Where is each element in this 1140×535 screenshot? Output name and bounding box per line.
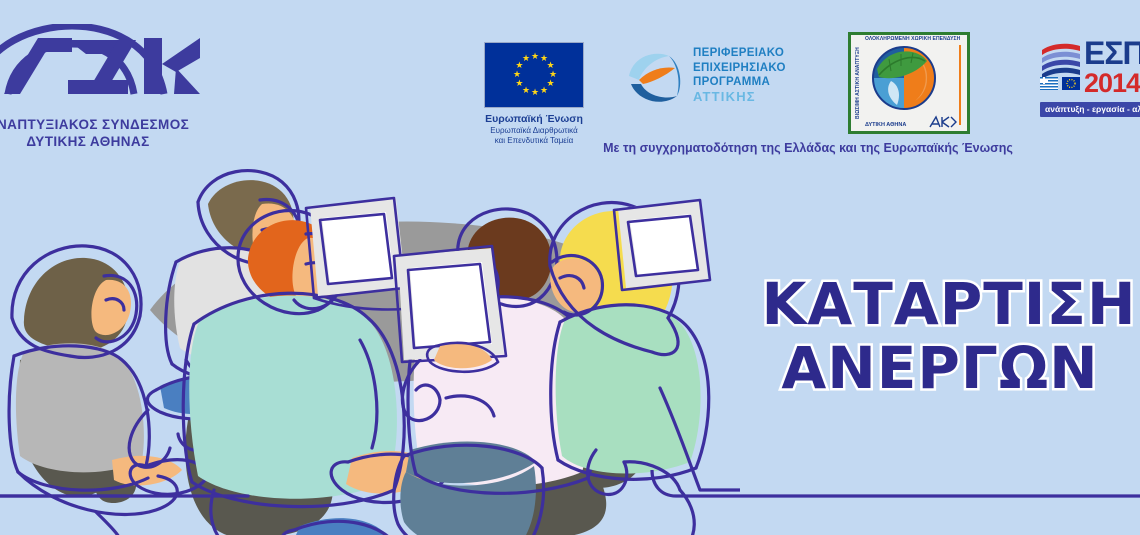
tablet-center [394,246,506,372]
iti-vertical-label: ΒΙΩΣΙΜΗ ΑΣΤΙΚΗ ΑΝΑΠΤΥΞΗ [853,44,863,122]
pep-line4: ΑΤΤΙΚΗΣ [693,90,786,105]
laptop-right [614,200,710,290]
headline-line1: ΚΑΤΑΡΤΙΣΗ [748,272,1140,336]
integrated-territorial-investment-logo: ΟΛΟΚΛΗΡΩΜΕΝΗ ΧΩΡΙΚΗ ΕΠΕΝΔΥΣΗ ΒΙΩΣΙΜΗ ΑΣΤ… [848,32,970,134]
eu-logo-subtitle-2: και Επενδυτικά Ταμεία [478,136,590,146]
espa-tagline: ανάπτυξη - εργασία - αλληλεγγύη [1040,102,1140,117]
eu-star: ★ [546,79,555,88]
adsda-name-line1: ΑΝΑΠΤΥΞΙΑΚΟΣ ΣΥΝΔΕΣΜΟΣ [0,117,189,132]
iti-orange-rule [959,45,961,125]
bottom-rule [0,470,1140,535]
headline-block: ΚΑΤΑΡΤΙΣΗ ΑΝΕΡΓΩΝ [730,272,1140,400]
espa-wordmark: ΕΣΠΑ [1084,36,1140,70]
pep-line1: ΠΕΡΙΦΕΡΕΙΑΚΟ [693,46,786,61]
espa-logo: ΕΣΠΑ 2014-2020 ανάπτυξη - εργασία - αλλη… [1040,36,1140,132]
eu-star: ★ [531,52,540,61]
european-union-logo: ★ ★ ★ ★ ★ ★ ★ ★ ★ ★ ★ ★ Ευρωπαϊκή Ένωση … [478,42,590,146]
pep-swoosh-icon [625,50,687,112]
eu-star: ★ [549,70,558,79]
pep-line3: ΠΡΟΓΡΑΜΜΑ [693,75,786,90]
regional-operational-programme-logo: ΠΕΡΙΦΕΡΕΙΑΚΟ ΕΠΙΧΕΙΡΗΣΙΑΚΟ ΠΡΟΓΡΑΜΜΑ ΑΤΤ… [625,44,825,124]
eu-logo-title: Ευρωπαϊκή Ένωση [478,113,590,126]
eu-flag: ★ ★ ★ ★ ★ ★ ★ ★ ★ ★ ★ ★ [484,42,584,108]
pep-text-block: ΠΕΡΙΦΕΡΕΙΑΚΟ ΕΠΙΧΕΙΡΗΣΙΑΚΟ ΠΡΟΓΡΑΜΜΑ ΑΤΤ… [693,46,786,104]
eu-star: ★ [531,88,540,97]
cofunding-note: Με τη συγχρηματοδότηση της Ελλάδας και τ… [598,140,1018,156]
iti-caption: ΟΛΟΚΛΗΡΩΜΕΝΗ ΧΩΡΙΚΗ ΕΠΕΝΔΥΣΗ [865,36,965,43]
pep-line2: ΕΠΙΧΕΙΡΗΣΙΑΚΟ [693,61,786,76]
adsda-bridge-mark [0,24,208,96]
eu-logo-subtitle-1: Ευρωπαϊκά Διαρθρωτικά [478,126,590,136]
adsda-name-line2: ΔΥΤΙΚΗΣ ΑΘΗΝΑΣ [0,133,208,150]
greece-eu-flags-icon [1040,76,1082,94]
asda-mark-icon [928,115,958,129]
iti-subtitle: ΔΥΤΙΚΗ ΑΘΗΝΑ [865,122,906,128]
logo-strip: ΑΝΑΠΤΥΞΙΑΚΟΣ ΣΥΝΔΕΣΜΟΣ ΔΥΤΙΚΗΣ ΑΘΗΝΑΣ ★ … [0,0,1140,170]
globe-leaf-icon [871,45,937,111]
headline-line2: ΑΝΕΡΓΩΝ [730,336,1140,400]
espa-years: 2014-2020 [1084,69,1140,98]
eu-star: ★ [522,86,531,95]
banner-root: ΑΝΑΠΤΥΞΙΑΚΟΣ ΣΥΝΔΕΣΜΟΣ ΔΥΤΙΚΗΣ ΑΘΗΝΑΣ ★ … [0,0,1140,535]
eu-star: ★ [540,54,549,63]
adsda-logo-name: ΑΝΑΠΤΥΞΙΑΚΟΣ ΣΥΝΔΕΣΜΟΣ ΔΥΤΙΚΗΣ ΑΘΗΝΑΣ [0,116,208,150]
adsda-logo: ΑΝΑΠΤΥΞΙΑΚΟΣ ΣΥΝΔΕΣΜΟΣ ΔΥΤΙΚΗΣ ΑΘΗΝΑΣ [0,24,208,154]
